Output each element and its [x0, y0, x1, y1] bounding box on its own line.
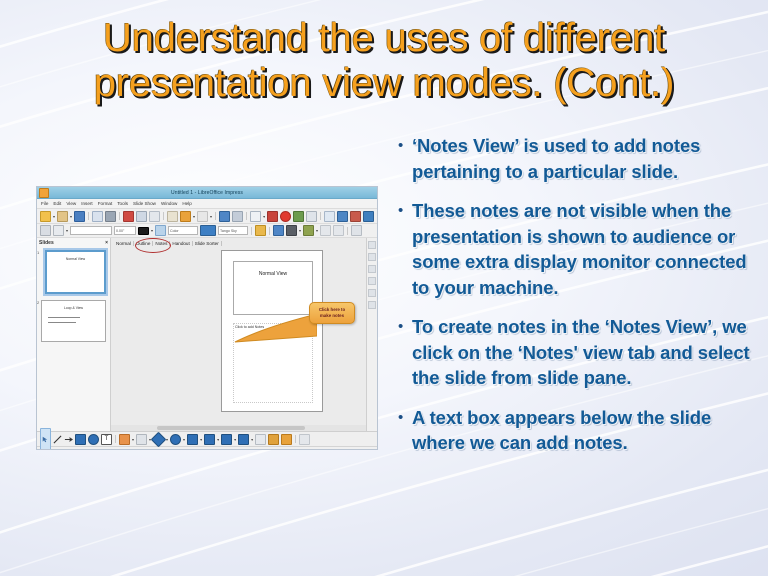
menu-item-format[interactable]: Format [98, 201, 113, 206]
toolbar-separator [377, 212, 378, 220]
bullet-list: • ‘Notes View’ is used to add notes pert… [396, 133, 754, 470]
rectangle-tool-icon[interactable] [75, 434, 86, 445]
ellipse-tool-icon[interactable] [88, 434, 99, 445]
menu-item-window[interactable]: Window [161, 201, 177, 206]
status-slide-count: Slide 1 / 2 [352, 449, 377, 450]
status-bar: -2.44 / -0.50 0.00 x 0.00 • Slide 1 / 2 [37, 446, 377, 450]
dropdown-caret-icon[interactable]: ▾ [151, 228, 153, 233]
display-views-icon[interactable] [219, 211, 230, 222]
dropdown-caret-icon[interactable]: ▾ [70, 214, 72, 219]
tab-outline[interactable]: Outline [134, 241, 154, 246]
title-line-2: presentation view modes. (Cont.) [22, 63, 746, 104]
slides-pane: Slides × 1 Normal View 2 Loop & View [37, 238, 111, 431]
toolbar-separator [246, 212, 247, 220]
callout-line-2: make notes [320, 313, 344, 318]
view-tab-bar: Normal Outline Notes Handout Slide Sorte… [111, 238, 366, 248]
bullet-dot-icon: • [396, 133, 412, 159]
media-icon[interactable] [293, 211, 304, 222]
distribute-icon[interactable] [351, 225, 362, 236]
copy-icon[interactable] [136, 211, 147, 222]
connector-tool-icon[interactable] [136, 434, 147, 445]
curve-tool-icon[interactable] [119, 434, 130, 445]
toolbar-separator [320, 212, 321, 220]
status-zoom-marker[interactable]: • [344, 449, 352, 450]
zoom-icon[interactable] [232, 211, 243, 222]
shadow-icon[interactable] [255, 225, 266, 236]
toolbar-separator [115, 435, 116, 443]
text-tool-icon[interactable]: T [101, 434, 112, 445]
status-cursor-position: -2.44 / -0.50 [288, 449, 317, 450]
print-icon[interactable] [105, 211, 116, 222]
callout-bubble: Click here to make notes [309, 302, 355, 324]
bullet-dot-icon: • [396, 314, 412, 340]
dropdown-caret-icon[interactable]: ▾ [316, 228, 318, 233]
slide-properties-icon[interactable] [350, 211, 361, 222]
slides-pane-header: Slides × [37, 238, 110, 247]
edit-canvas: Normal Outline Notes Handout Slide Sorte… [111, 238, 366, 431]
image-icon[interactable] [267, 211, 278, 222]
sidebar-slide-transition-icon[interactable] [368, 253, 376, 261]
sidebar-master-slides-icon[interactable] [368, 277, 376, 285]
scrollbar-thumb[interactable] [157, 426, 305, 430]
bullet-dot-icon: • [396, 405, 412, 431]
table-icon[interactable] [250, 211, 261, 222]
thumbnail-text-line [48, 317, 80, 318]
tab-slide-sorter[interactable]: Slide Sorter [193, 241, 222, 246]
dropdown-caret-icon[interactable]: ▾ [183, 437, 185, 442]
area-style-icon[interactable] [155, 225, 166, 236]
window-title-bar: Untitled 1 - LibreOffice Impress [37, 187, 377, 199]
arrow-style-icon[interactable] [40, 225, 51, 236]
start-slideshow-icon[interactable] [324, 211, 335, 222]
list-item: • ‘Notes View’ is used to add notes pert… [396, 133, 754, 184]
export-pdf-icon[interactable] [92, 211, 103, 222]
menu-item-tools[interactable]: Tools [117, 201, 128, 206]
dropdown-caret-icon[interactable]: ▾ [210, 214, 212, 219]
symbol-shapes-icon[interactable] [170, 434, 181, 445]
cut-icon[interactable] [123, 211, 134, 222]
list-item: • To create notes in the ‘Notes View’, w… [396, 314, 754, 391]
line-width-input[interactable]: 0.00" [114, 226, 136, 235]
toolbar-separator [251, 227, 252, 235]
dropdown-caret-icon[interactable]: ▾ [193, 214, 195, 219]
callout-shapes-icon[interactable] [221, 434, 232, 445]
menu-item-file[interactable]: File [41, 201, 48, 206]
fill-color-swatch[interactable] [200, 225, 216, 236]
menu-item-insert[interactable]: Insert [81, 201, 93, 206]
title-line-1: Understand the uses of different [22, 18, 746, 59]
slide-thumbnail-title: Normal View [47, 257, 104, 261]
arrange-icon[interactable] [333, 225, 344, 236]
line-style-select[interactable] [70, 226, 112, 235]
notes-page-slide-preview[interactable]: Normal View [233, 261, 313, 315]
fill-style-select[interactable]: Color [168, 226, 198, 235]
extrusion-tool-icon[interactable] [268, 434, 279, 445]
dropdown-caret-icon[interactable]: ▾ [234, 437, 236, 442]
slide-number: 1 [37, 250, 39, 255]
bullet-text: These notes are not visible when the pre… [412, 198, 754, 300]
dropdown-caret-icon[interactable]: ▾ [299, 228, 301, 233]
thumbnail-text-line [48, 322, 76, 323]
basic-shapes-icon[interactable] [151, 431, 167, 447]
line-and-filling-toolbar: ▾ 0.00" ▾ Color Tango Sky ▾ ▾ [37, 224, 377, 238]
new-slide-icon[interactable] [363, 211, 374, 222]
dropdown-caret-icon[interactable]: ▾ [263, 214, 265, 219]
work-area: Slides × 1 Normal View 2 Loop & View [37, 238, 377, 431]
slide-canvas: Understand the uses of different present… [0, 0, 768, 576]
clone-formatting-icon[interactable] [167, 211, 178, 222]
list-item: • These notes are not visible when the p… [396, 198, 754, 300]
points-tool-icon[interactable] [299, 434, 310, 445]
dropdown-caret-icon[interactable]: ▾ [251, 437, 253, 442]
tab-normal[interactable]: Normal [114, 241, 134, 246]
standard-toolbar: ▾ ▾ ▾ ▾ ▾ [37, 209, 377, 224]
master-slide-icon[interactable] [337, 211, 348, 222]
tab-notes[interactable]: Notes [153, 241, 170, 246]
dropdown-caret-icon[interactable]: ▾ [200, 437, 202, 442]
undo-icon[interactable] [180, 211, 191, 222]
libreoffice-impress-screenshot: Untitled 1 - LibreOffice Impress File Ed… [36, 186, 378, 450]
toolbar-separator [215, 212, 216, 220]
callout-line-1: Click here to [319, 307, 345, 312]
notes-slide-title: Normal View [234, 271, 312, 277]
toolbar-separator [88, 212, 89, 220]
redo-icon[interactable] [197, 211, 208, 222]
horizontal-scrollbar[interactable] [111, 425, 366, 431]
rotate-tool-icon[interactable] [255, 434, 266, 445]
sidebar-gallery-icon[interactable] [368, 289, 376, 297]
toolbar-separator [119, 212, 120, 220]
slides-pane-title: Slides [39, 240, 54, 246]
menu-item-help[interactable]: Help [182, 201, 191, 206]
align-icon[interactable] [320, 225, 331, 236]
textbox-icon[interactable] [306, 211, 317, 222]
close-icon[interactable]: × [105, 240, 108, 246]
stars-shapes-icon[interactable] [238, 434, 249, 445]
filter-icon[interactable] [286, 225, 297, 236]
line-style-icon[interactable] [53, 225, 64, 236]
toolbar-separator [269, 227, 270, 235]
fill-color-select[interactable]: Tango Sky [218, 226, 248, 235]
list-item: • A text box appears below the slide whe… [396, 405, 754, 456]
dropdown-caret-icon[interactable]: ▾ [217, 437, 219, 442]
line-tool-icon[interactable] [53, 435, 62, 444]
callout-pointer-icon [233, 310, 317, 344]
menu-item-edit[interactable]: Edit [53, 201, 61, 206]
slide-thumbnail-title: Loop & View [42, 306, 105, 310]
dropdown-caret-icon[interactable]: ▾ [53, 214, 55, 219]
new-document-icon[interactable] [40, 211, 51, 222]
menu-bar: File Edit View Insert Format Tools Slide… [37, 199, 377, 209]
open-document-icon[interactable] [57, 211, 68, 222]
sidebar-panel-strip [366, 238, 377, 431]
cursor-arrow-icon [42, 436, 49, 443]
slide-thumbnail-1[interactable]: Normal View [45, 250, 106, 294]
chart-icon[interactable] [280, 211, 291, 222]
drawing-toolbar: T ▾ ▾ ▾ ▾ ▾ ▾ ▾ ▾ [37, 431, 377, 446]
bullet-text: ‘Notes View’ is used to add notes pertai… [412, 133, 754, 184]
sidebar-navigator-icon[interactable] [368, 301, 376, 309]
dropdown-caret-icon[interactable]: ▾ [132, 437, 134, 442]
bullet-text: To create notes in the ‘Notes View’, we … [412, 314, 754, 391]
page-title: Understand the uses of different present… [22, 18, 746, 104]
dropdown-caret-icon[interactable]: ▾ [66, 228, 68, 233]
bullet-text: A text box appears below the slide where… [412, 405, 754, 456]
bullet-dot-icon: • [396, 198, 412, 224]
menu-item-slideshow[interactable]: Slide Show [133, 201, 156, 206]
save-icon[interactable] [74, 211, 85, 222]
line-color-icon[interactable] [138, 227, 149, 235]
menu-item-view[interactable]: View [66, 201, 76, 206]
insert-image-icon[interactable] [281, 434, 292, 445]
tab-handout[interactable]: Handout [170, 241, 192, 246]
slide-thumbnail-list: 1 Normal View 2 Loop & View [37, 247, 110, 348]
arrow-tool-icon[interactable] [64, 435, 73, 444]
sidebar-animation-icon[interactable] [368, 265, 376, 273]
toolbar-separator [347, 227, 348, 235]
toolbar-separator [163, 212, 164, 220]
toolbar-separator [295, 435, 296, 443]
slide-number: 2 [37, 300, 39, 305]
window-title: Untitled 1 - LibreOffice Impress [37, 190, 377, 196]
paste-icon[interactable] [149, 211, 160, 222]
crop-icon[interactable] [273, 225, 284, 236]
status-object-size: 0.00 x 0.00 [317, 449, 344, 450]
select-tool-button[interactable] [40, 428, 51, 450]
flowchart-shapes-icon[interactable] [204, 434, 215, 445]
slide-thumbnail-2[interactable]: Loop & View [41, 300, 106, 342]
sidebar-properties-icon[interactable] [368, 241, 376, 249]
rotate-icon[interactable] [303, 225, 314, 236]
block-arrows-icon[interactable] [187, 434, 198, 445]
